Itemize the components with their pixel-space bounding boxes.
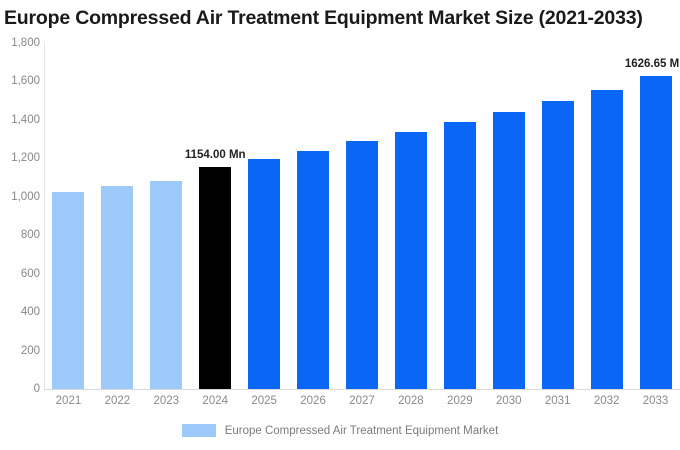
y-axis-tick-label: 1,800 [0,37,40,49]
y-axis-tick-label: 400 [0,306,40,318]
legend-swatch-icon [182,424,216,437]
y-axis-tick-label: 200 [0,345,40,357]
x-axis-tick-label-2028: 2028 [398,395,424,407]
bar-2028[interactable] [395,132,427,389]
bar-2031[interactable] [542,101,574,389]
bars-layer: 1154.00 Mn1626.65 Mn [44,43,680,389]
x-axis: 2021202220232024202520262027202820292030… [44,392,680,414]
bar-2024[interactable] [199,167,231,389]
x-axis-tick-label-2029: 2029 [447,395,473,407]
x-axis-tick-label-2033: 2033 [643,395,669,407]
x-axis-tick-label-2026: 2026 [300,395,326,407]
x-axis-tick-label-2022: 2022 [105,395,131,407]
y-axis-tick-label: 1,600 [0,75,40,87]
bar-value-label-2024: 1154.00 Mn [185,149,246,161]
y-axis-tick-label: 1,400 [0,114,40,126]
bar-2025[interactable] [248,159,280,389]
x-axis-tick-label-2027: 2027 [349,395,375,407]
y-axis-tick-label: 600 [0,268,40,280]
chart-title: Europe Compressed Air Treatment Equipmen… [4,6,680,30]
y-axis-tick-label: 800 [0,229,40,241]
x-axis-tick-label-2025: 2025 [251,395,277,407]
chart-legend: Europe Compressed Air Treatment Equipmen… [0,424,680,437]
x-axis-tick-label-2024: 2024 [202,395,228,407]
x-axis-tick-label-2021: 2021 [56,395,82,407]
x-axis-tick-label-2023: 2023 [154,395,180,407]
bar-2023[interactable] [150,181,182,389]
bar-2033[interactable] [640,76,672,389]
bar-2027[interactable] [346,141,378,389]
bar-chart: Europe Compressed Air Treatment Equipmen… [0,0,680,450]
bar-2026[interactable] [297,151,329,389]
bar-2032[interactable] [591,90,623,389]
x-axis-tick-label-2030: 2030 [496,395,522,407]
bar-2022[interactable] [101,186,133,389]
x-axis-tick-label-2032: 2032 [594,395,620,407]
bar-2021[interactable] [52,192,84,389]
y-axis-tick-label: 1,000 [0,191,40,203]
x-axis-tick-label-2031: 2031 [545,395,571,407]
y-axis: 02004006008001,0001,2001,4001,6001,800 [0,43,40,389]
legend-label: Europe Compressed Air Treatment Equipmen… [225,425,499,437]
bar-value-label-2033: 1626.65 Mn [625,58,680,70]
bar-2030[interactable] [493,112,525,389]
bar-2029[interactable] [444,122,476,389]
y-axis-tick-label: 0 [0,383,40,395]
y-axis-tick-label: 1,200 [0,152,40,164]
x-axis-line [44,389,680,390]
